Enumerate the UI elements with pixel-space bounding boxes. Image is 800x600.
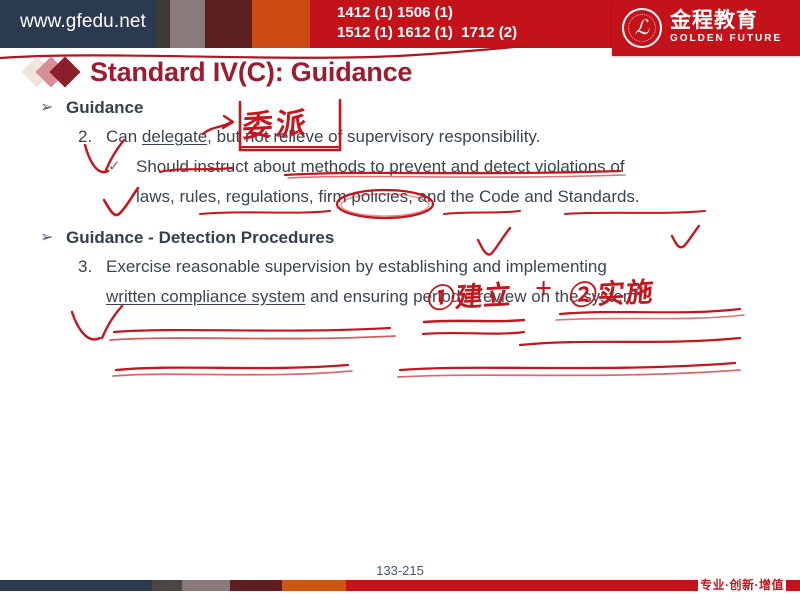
footer-band-orange: [282, 580, 346, 591]
brand-logo: ℒ 金程教育 GOLDEN FUTURE: [612, 0, 800, 56]
header-band-darkgray: [155, 0, 170, 48]
header-codes-line-2: 1512 (1) 1612 (1) 1712 (2): [337, 23, 517, 43]
section1-heading-label: Guidance: [66, 96, 143, 120]
page-title: Standard IV(C): Guidance: [90, 57, 412, 88]
logo-seal-icon: ℒ: [622, 8, 662, 48]
sub-line-2: laws, rules, regulations, firm policies,…: [136, 187, 640, 206]
list-item-guidance-3-line-2: written compliance system and ensuring p…: [106, 282, 642, 312]
title-diamond-icon: [26, 55, 90, 89]
list-number-2: 2.: [78, 122, 106, 152]
header-band-orange: [252, 0, 310, 48]
item3-underlined: written compliance system: [106, 287, 305, 306]
site-url-label: www.gfedu.net: [20, 11, 146, 33]
list-item-guidance-2-sub: ✓ Should instruct about methods to preve…: [0, 152, 800, 182]
section-heading-guidance: ➢ Guidance: [0, 96, 800, 120]
list-item-guidance-3-line-2-row: written compliance system and ensuring p…: [0, 282, 800, 312]
arrow-bullet-icon-2: ➢: [40, 226, 66, 250]
list-number-3: 3.: [78, 252, 106, 282]
footer-color-bar: [0, 580, 800, 591]
header-reference-codes: 1412 (1) 1506 (1) 1512 (1) 1612 (1) 1712…: [337, 3, 517, 43]
logo-english-name: GOLDEN FUTURE: [670, 32, 782, 46]
list-item-guidance-2: 2. Can delegate, but not relieve of supe…: [0, 122, 800, 152]
section2-heading-label: Guidance - Detection Procedures: [66, 226, 334, 250]
item2-text-pre: Can: [106, 127, 142, 146]
slide-canvas: www.gfedu.net 1412 (1) 1506 (1) 1512 (1)…: [0, 0, 800, 600]
footer-band-mauve: [182, 580, 230, 591]
section-heading-detection-procedures: ➢ Guidance - Detection Procedures: [0, 226, 800, 250]
header-codes-line-1: 1412 (1) 1506 (1): [337, 3, 517, 23]
page-title-row: Standard IV(C): Guidance: [26, 50, 412, 94]
logo-text-block: 金程教育 GOLDEN FUTURE: [670, 10, 782, 46]
slide-body: ➢ Guidance 2. Can delegate, but not reli…: [0, 96, 800, 312]
arrow-bullet-icon: ➢: [40, 96, 66, 120]
list-item-guidance-3-line-1: Exercise reasonable supervision by estab…: [106, 252, 607, 282]
item2-text-underlined: delegate: [142, 127, 207, 146]
sub-line-1: Should instruct about methods to prevent…: [136, 152, 625, 182]
footer-band-darkgray: [152, 580, 182, 591]
list-item-guidance-2-text: Can delegate, but not relieve of supervi…: [106, 122, 540, 152]
logo-chinese-name: 金程教育: [670, 10, 782, 32]
list-item-guidance-2-sub-cont: laws, rules, regulations, firm policies,…: [0, 182, 800, 212]
list-item-guidance-3: 3. Exercise reasonable supervision by es…: [0, 252, 800, 282]
handwritten-note-implement: ②实施: [568, 270, 656, 313]
page-number: 133-215: [0, 563, 800, 578]
footer-tagline: 专业·创新·增值: [698, 576, 786, 593]
handwritten-note-plus: +: [535, 272, 552, 306]
handwritten-note-establish: ①建立: [426, 273, 514, 316]
footer-band-navy: [0, 580, 152, 591]
logo-seal-glyph: ℒ: [635, 18, 649, 38]
header-band-maroon: [205, 0, 252, 48]
handwritten-note-delegate: 委派: [241, 98, 310, 145]
header-band-mauve: [170, 0, 205, 48]
check-bullet-icon: ✓: [108, 152, 136, 182]
footer-band-maroon: [230, 580, 282, 591]
